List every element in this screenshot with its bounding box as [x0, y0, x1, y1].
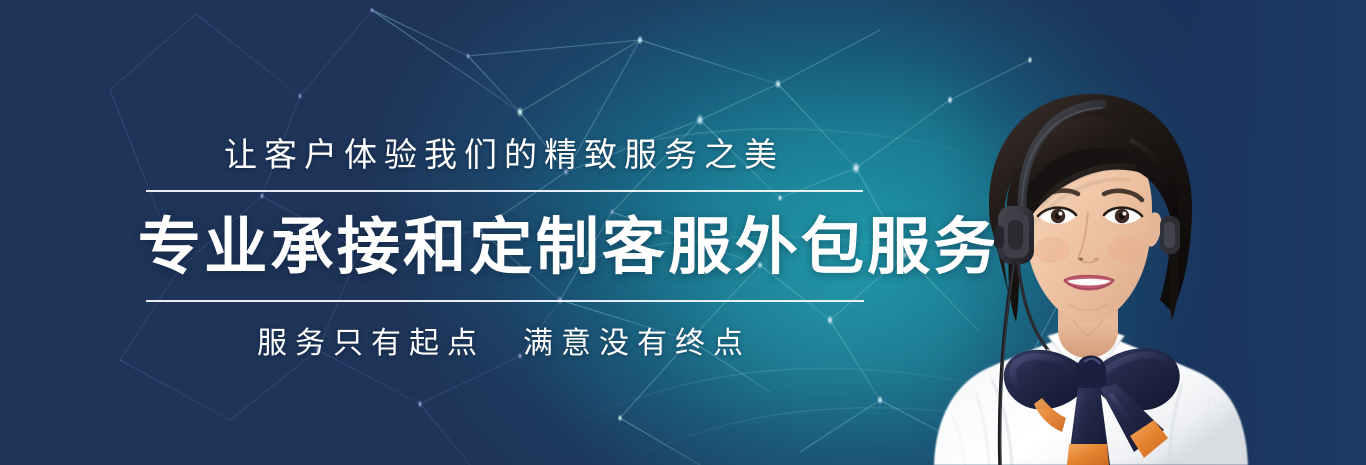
hero-banner: 让客户体验我们的精致服务之美 专业承接和定制客服外包服务 服务只有起点 满意没有…	[0, 0, 1366, 465]
divider-bottom	[146, 300, 864, 302]
divider-top	[146, 190, 863, 192]
hero-headline: 专业承接和定制客服外包服务	[138, 210, 871, 286]
hero-subtagline: 服务只有起点 满意没有终点	[145, 318, 863, 362]
customer-service-agent-photo	[872, 0, 1272, 465]
hero-copy: 让客户体验我们的精致服务之美 专业承接和定制客服外包服务 服务只有起点 满意没有…	[0, 0, 900, 465]
hero-tagline: 让客户体验我们的精致服务之美	[145, 128, 863, 176]
